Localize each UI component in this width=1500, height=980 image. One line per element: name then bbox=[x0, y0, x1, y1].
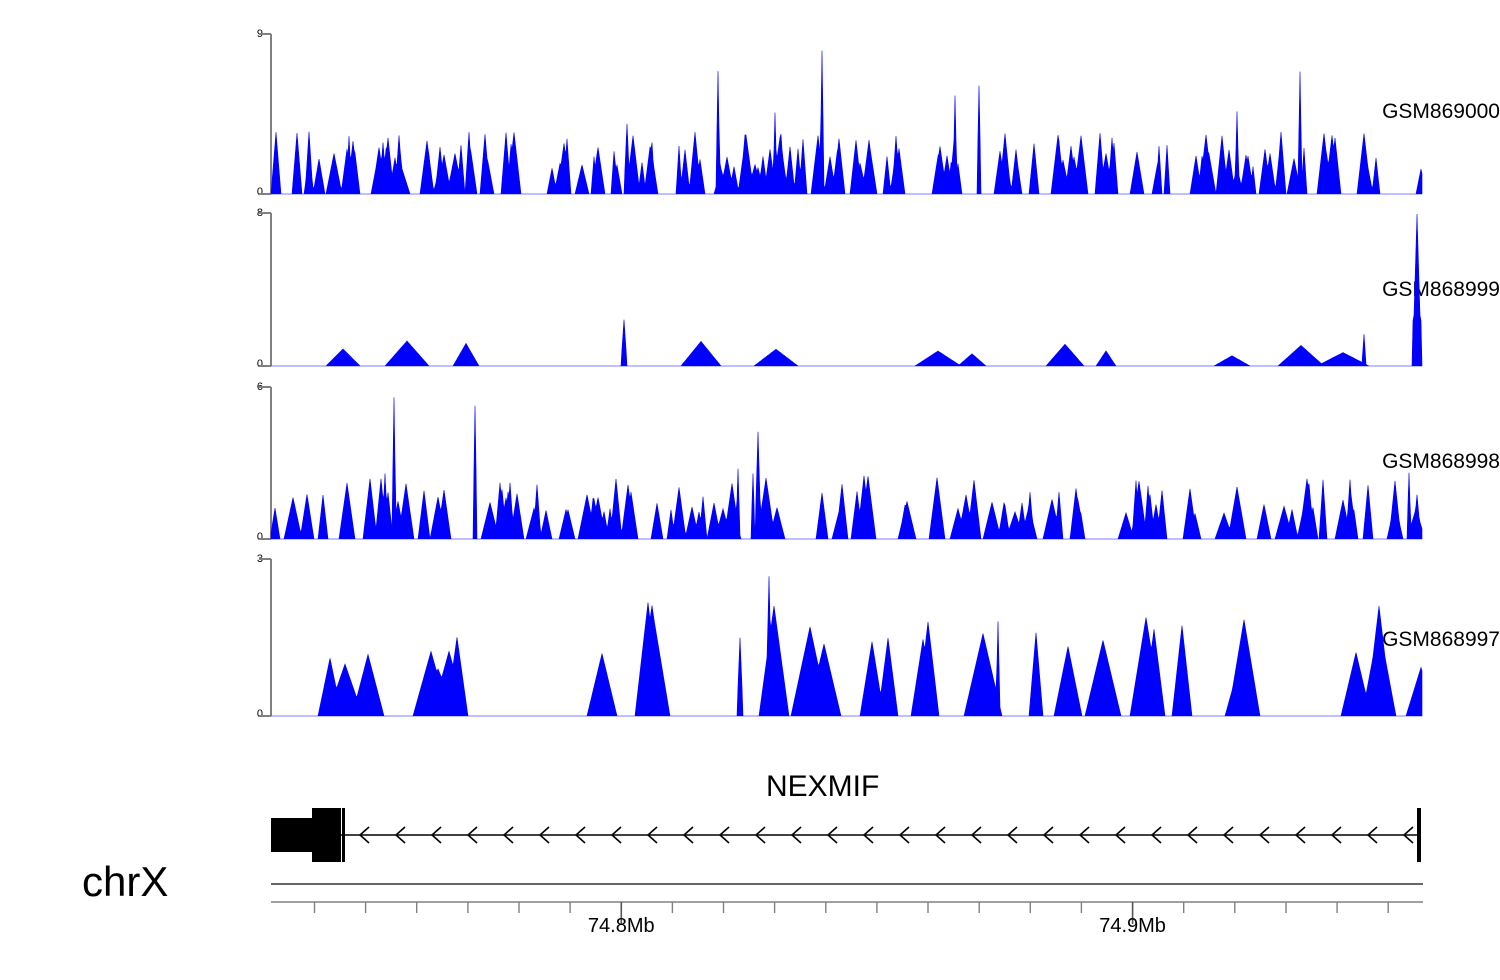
gene-exon-block[interactable] bbox=[1417, 808, 1421, 862]
gene-exon-block[interactable] bbox=[314, 808, 341, 862]
ruler-axis bbox=[0, 880, 1500, 924]
coverage-plot-gsm868997 bbox=[259, 558, 1425, 718]
y-axis-gsm868997 bbox=[259, 559, 271, 716]
y-axis-gsm869000 bbox=[259, 34, 271, 194]
ruler-tick-label: 74.9Mb bbox=[1043, 915, 1223, 938]
axis-max-label-gsm869000: 9 bbox=[223, 28, 263, 40]
gene-exon-block[interactable] bbox=[271, 818, 312, 852]
axis-min-label-gsm869000: 0 bbox=[223, 186, 263, 198]
y-axis-gsm868999 bbox=[259, 213, 271, 366]
coverage-area-gsm869000[interactable] bbox=[271, 51, 1422, 194]
coverage-area-gsm868999[interactable] bbox=[271, 214, 1422, 366]
axis-max-label-gsm868999: 8 bbox=[223, 207, 263, 219]
axis-max-label-gsm868998: 6 bbox=[223, 381, 263, 393]
coverage-plot-gsm868998 bbox=[259, 386, 1425, 541]
y-axis-gsm868998 bbox=[259, 387, 271, 539]
coverage-area-gsm868998[interactable] bbox=[271, 397, 1422, 539]
axis-min-label-gsm868999: 0 bbox=[223, 358, 263, 370]
genome-browser-view: GSM86900090GSM86899980GSM86899860GSM8689… bbox=[0, 0, 1500, 980]
coverage-plot-gsm869000 bbox=[259, 33, 1425, 196]
axis-max-label-gsm868997: 3 bbox=[223, 553, 263, 565]
axis-min-label-gsm868998: 0 bbox=[223, 531, 263, 543]
coverage-area-gsm868997[interactable] bbox=[271, 576, 1422, 716]
gene-name-label: NEXMIF bbox=[0, 770, 1500, 804]
gene-exon-block[interactable] bbox=[342, 808, 345, 862]
ruler-tick-label: 74.8Mb bbox=[531, 915, 711, 938]
coverage-plot-gsm868999 bbox=[259, 212, 1425, 368]
gene-exon-block[interactable] bbox=[312, 808, 314, 862]
axis-min-label-gsm868997: 0 bbox=[223, 708, 263, 720]
gene-model bbox=[0, 800, 1500, 872]
